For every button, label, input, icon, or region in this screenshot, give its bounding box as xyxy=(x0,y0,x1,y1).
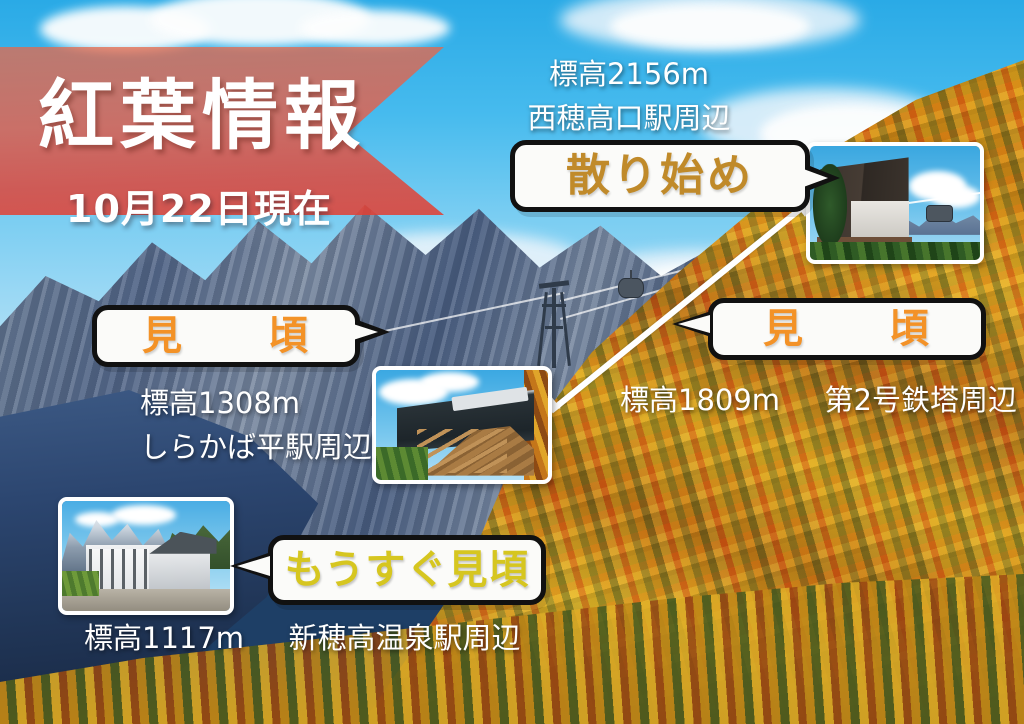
status-bubble-dai2-tetto[interactable]: 見 頃 xyxy=(708,298,986,360)
photo-content xyxy=(62,501,230,611)
caption-shirakabadaira: 標高1308m しらかば平駅周辺 xyxy=(140,385,372,466)
elevation-label: 標高1308m xyxy=(140,386,300,420)
autumn-foliage-poster: 紅葉情報 10月22日現在 xyxy=(0,0,1024,724)
status-label: もうすぐ見頃 xyxy=(285,550,530,590)
cloud-icon xyxy=(421,372,479,392)
caption-dai2-tetto: 標高1809m 第2号鉄塔周辺 xyxy=(620,382,1017,418)
station-name-label: しらかば平駅周辺 xyxy=(140,429,372,465)
poster-date: 10月22日現在 xyxy=(66,190,332,228)
photo-greenery xyxy=(62,571,99,595)
station-building-lower xyxy=(851,201,909,242)
bubble-tail-fill-right xyxy=(678,315,710,333)
cloud-icon xyxy=(300,10,450,46)
bubble-tail-fill-bottom xyxy=(237,556,270,576)
gondola-icon xyxy=(618,278,644,298)
ropeway-tower xyxy=(537,282,571,368)
station-name-label: 西穂高口駅周辺 xyxy=(524,100,734,136)
photo-greenery xyxy=(810,242,980,260)
stair-railing xyxy=(417,429,506,473)
cloud-icon xyxy=(610,4,810,48)
photo-content xyxy=(376,370,548,480)
caption-shinhotaka-onsen: 標高1117m 新穂高温泉駅周辺 xyxy=(84,620,521,656)
status-bubble-shinhotaka-onsen[interactable]: もうすぐ見頃 xyxy=(268,535,546,605)
elevation-label: 標高1809m xyxy=(620,382,780,418)
status-label: 見 頃 xyxy=(142,316,310,356)
gondola-icon xyxy=(926,205,953,222)
bubble-tail-fill-top xyxy=(798,167,828,189)
elevation-label: 標高1117m xyxy=(84,620,244,656)
caption-nishihotakaguchi: 標高2156m 西穂高口駅周辺 xyxy=(524,56,734,137)
station-name-label: 第2号鉄塔周辺 xyxy=(825,382,1017,418)
page-title: 紅葉情報 xyxy=(38,78,366,154)
photo-nishihotakaguchi[interactable] xyxy=(806,142,984,264)
elevation-label: 標高2156m xyxy=(549,57,709,91)
status-label: 散り始め xyxy=(566,154,754,198)
status-bubble-shirakabadaira[interactable]: 見 頃 xyxy=(92,305,360,367)
photo-shirakabadaira[interactable] xyxy=(372,366,552,484)
photo-greenery xyxy=(376,447,428,480)
status-label: 見 頃 xyxy=(763,309,931,349)
station-name-label: 新穂高温泉駅周辺 xyxy=(289,620,521,656)
photo-shinhotaka-onsen[interactable] xyxy=(58,497,234,615)
status-bubble-nishihotakaguchi[interactable]: 散り始め xyxy=(510,140,810,212)
bubble-tail-fill-left xyxy=(350,323,378,341)
